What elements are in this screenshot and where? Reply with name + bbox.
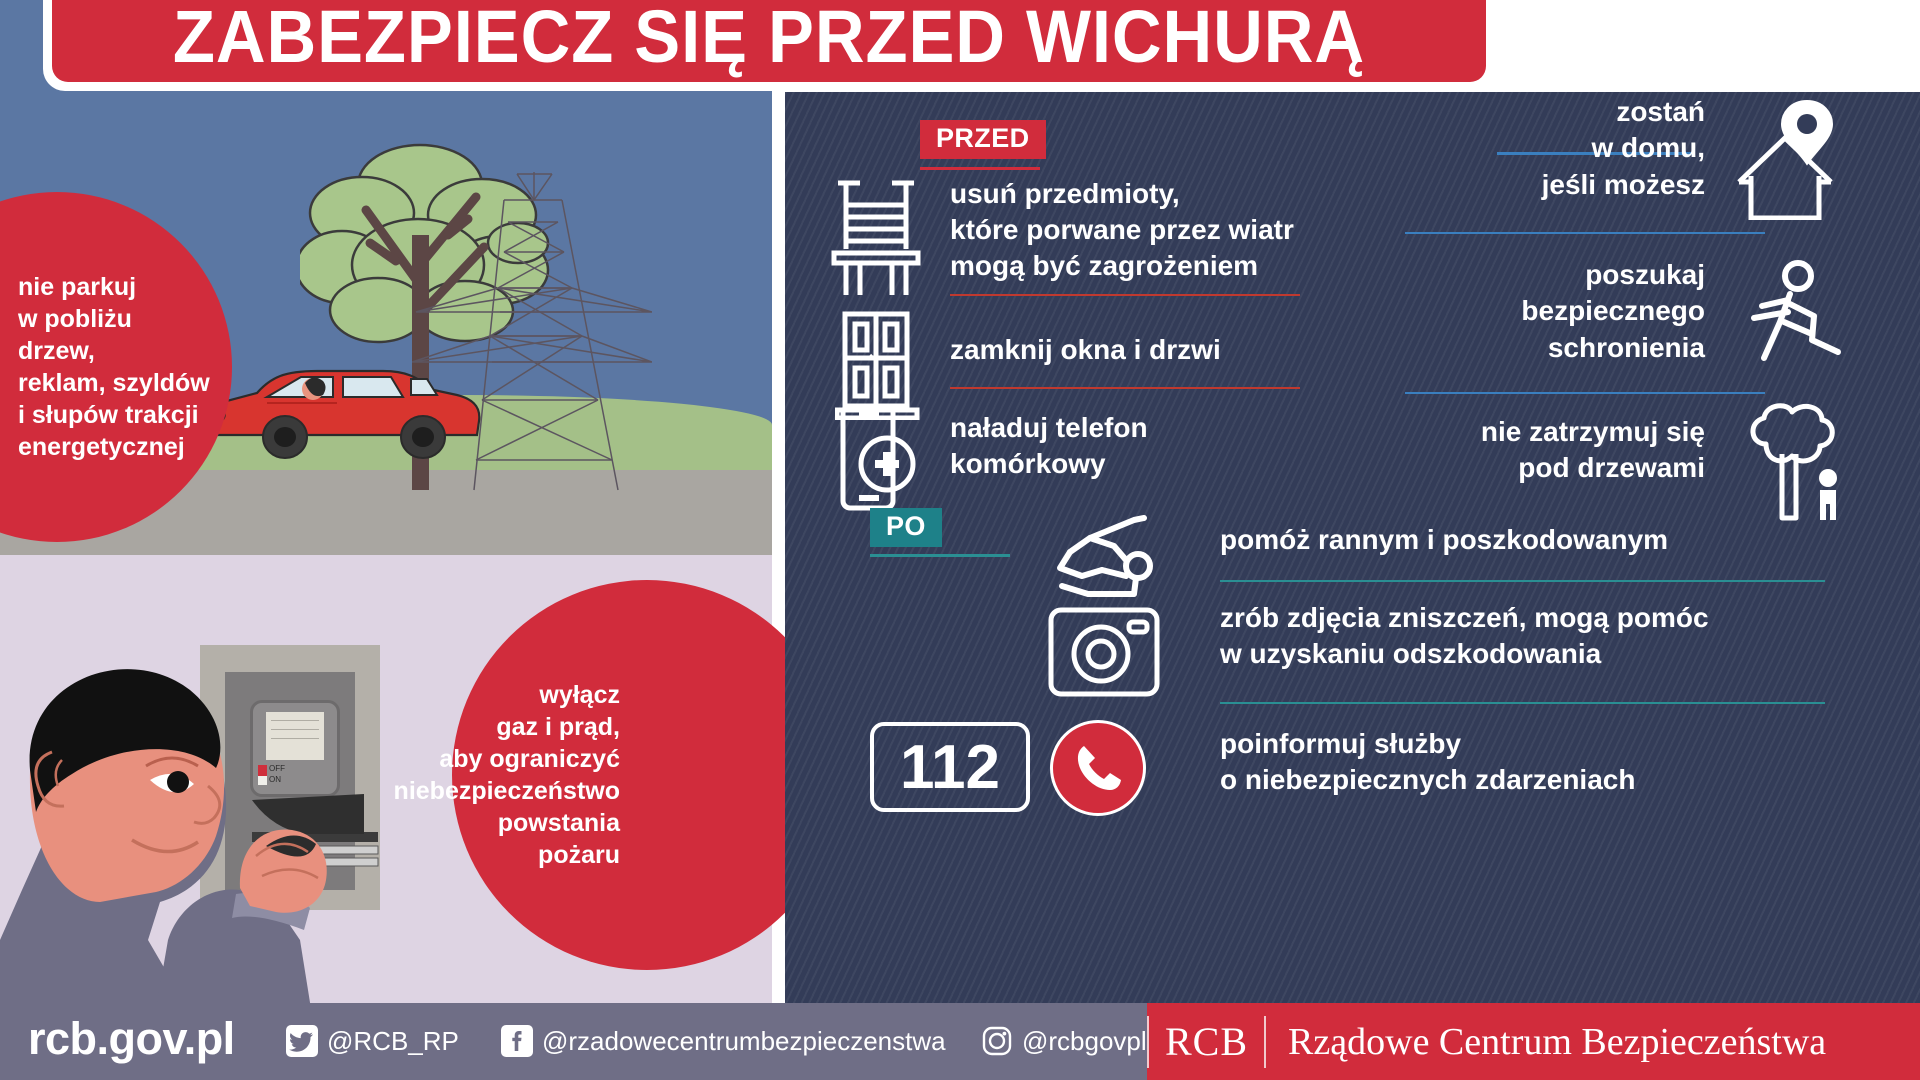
twitter-handle: @RCB_RP — [327, 1026, 459, 1057]
advice-text-close-windows: zamknij okna i drzwi — [950, 332, 1221, 368]
social-twitter[interactable]: @RCB_RP — [285, 1024, 459, 1058]
badge-before: PRZED — [920, 120, 1046, 159]
twitter-icon — [285, 1024, 319, 1058]
red-car-illustration — [205, 355, 485, 460]
advice-text-take-photos: zrób zdjęcia zniszczeń, mogą pomóc w uzy… — [1220, 600, 1709, 672]
page-title: ZABEZPIECZ SIĘ PRZED WICHURĄ — [173, 0, 1365, 79]
advice-text-help-injured: pomóż rannym i poszkodowanym — [1220, 522, 1668, 558]
instagram-handle: @rcbgovpl — [1022, 1026, 1147, 1057]
title-banner-wrap: ZABEZPIECZ SIĘ PRZED WICHURĄ — [43, 0, 1495, 91]
rcb-logo: RCB Rządowe Centrum Bezpieczeństwa — [1147, 1003, 1920, 1080]
website-url: rcb.gov.pl — [28, 1013, 235, 1065]
advice-panel: PRZED usuń przedmioty, które porwane prz… — [785, 92, 1920, 1003]
advice-text-avoid-trees: nie zatrzymuj się pod drzewami — [1255, 414, 1705, 487]
mobile-phone-charge-icon — [835, 402, 923, 512]
advice-text-charge-phone: naładuj telefon komórkowy — [950, 410, 1148, 482]
person-turning-off-power-illustration — [0, 640, 420, 1003]
advice-text-remove-objects: usuń przedmioty, które porwane przez wia… — [950, 176, 1294, 283]
title-banner: ZABEZPIECZ SIĘ PRZED WICHURĄ — [52, 0, 1486, 82]
badge-after: PO — [870, 508, 942, 547]
phone-call-icon — [1050, 720, 1146, 816]
social-facebook[interactable]: @rzadowecentrumbezpieczenstwa — [500, 1024, 946, 1058]
advice-text-inform-services: poinformuj służby o niebezpiecznych zdar… — [1220, 726, 1635, 798]
badge-after-underline — [870, 554, 1010, 557]
divider-during-2 — [1405, 392, 1765, 394]
divider-before-1 — [950, 294, 1300, 296]
advice-text-stay-home: zostań w domu, jeśli możesz — [1305, 94, 1705, 203]
advice-text-seek-shelter: poszukaj bezpiecznego schronienia — [1305, 257, 1705, 366]
note-circle-gas-power-text: wyłącz gaz i prąd, aby ograniczyć niebez… — [394, 679, 620, 871]
badge-before-underline — [920, 167, 1040, 170]
facebook-handle: @rzadowecentrumbezpieczenstwa — [542, 1026, 946, 1057]
divider-after-1 — [1220, 580, 1825, 582]
divider-after-2 — [1220, 702, 1825, 704]
running-person-icon — [1740, 260, 1850, 375]
chair-icon — [830, 177, 922, 297]
house-location-pin-icon — [1725, 100, 1845, 220]
instagram-icon — [980, 1024, 1014, 1058]
note-circle-gas-power: wyłącz gaz i prąd, aby ograniczyć niebez… — [452, 580, 842, 970]
emergency-number-badge: 112 — [870, 722, 1030, 812]
tree-person-icon — [1740, 402, 1855, 522]
social-instagram[interactable]: @rcbgovpl — [980, 1024, 1147, 1058]
infographic-root: OFF ON nie pa — [0, 0, 1920, 1080]
rcb-logo-short: RCB — [1149, 1018, 1264, 1065]
note-circle-parking-text: nie parkuj w pobliżu drzew, reklam, szyl… — [18, 271, 210, 463]
facebook-icon — [500, 1024, 534, 1058]
divider-during-1 — [1405, 232, 1765, 234]
injured-person-icon — [1040, 514, 1170, 609]
camera-icon — [1047, 604, 1162, 699]
rcb-logo-full: Rządowe Centrum Bezpieczeństwa — [1266, 1020, 1826, 1064]
divider-before-2 — [950, 387, 1300, 389]
